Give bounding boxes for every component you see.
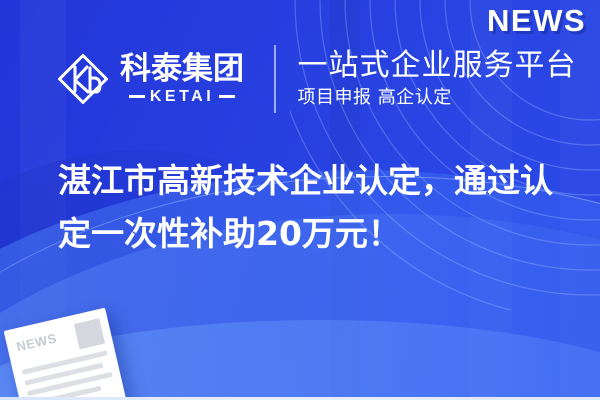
- page-title: 湛江市高新技术企业认定，通过认定一次性补助20万元！: [58, 154, 568, 261]
- brand-name-en-row: KETAI: [120, 89, 244, 105]
- brand-name-cn: 科泰集团: [120, 53, 244, 86]
- news-badge: NEWS: [487, 4, 586, 38]
- banner-header: 科泰集团 KETAI 一站式企业服务平台 项目申报 高企认定: [0, 38, 600, 120]
- brand-wordmark: 科泰集团 KETAI: [120, 53, 244, 105]
- decorative-dash-left: [129, 95, 145, 98]
- brand-name-en: KETAI: [150, 89, 214, 105]
- newspaper-illustration: NEWS: [4, 308, 129, 400]
- news-banner: NEWS 科泰集团: [0, 0, 600, 400]
- decorative-dash-right: [219, 95, 235, 98]
- newspaper-image-block: [74, 318, 105, 349]
- kp-diamond-monogram-icon: [56, 52, 110, 106]
- header-divider: [274, 45, 276, 113]
- tagline-main: 一站式企业服务平台: [298, 49, 577, 83]
- newspaper-title: NEWS: [14, 324, 77, 353]
- tagline-sub: 项目申报 高企认定: [298, 87, 577, 109]
- tagline-block: 一站式企业服务平台 项目申报 高企认定: [298, 49, 577, 108]
- brand-logo[interactable]: 科泰集团 KETAI: [56, 52, 244, 106]
